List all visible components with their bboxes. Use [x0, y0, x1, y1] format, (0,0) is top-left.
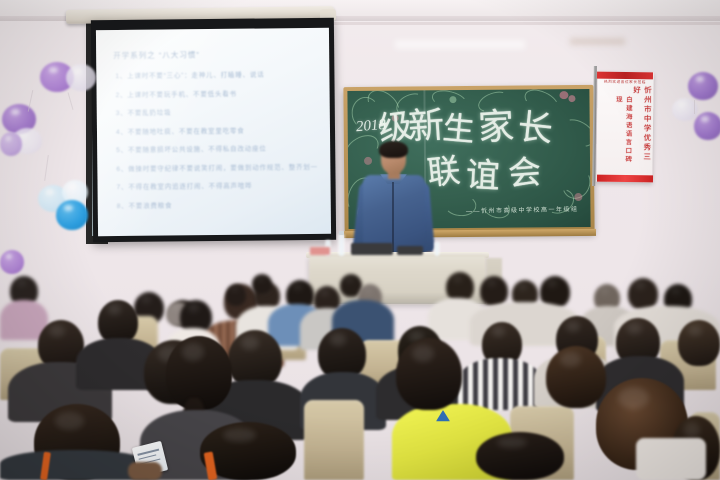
- slide-line: 3、不要乱扔垃圾: [116, 105, 325, 117]
- balloon: [694, 112, 720, 140]
- balloon: [0, 250, 24, 274]
- audience-body: [458, 358, 542, 410]
- wall-trim-secondary: [330, 22, 720, 25]
- balloon: [66, 64, 96, 91]
- slide-line: 2、上课时不要玩手机、不要低头看书: [116, 86, 325, 98]
- blackboard-headline-char: 会: [506, 145, 542, 195]
- audience-head: [476, 432, 564, 480]
- projected-slide: 开学系列之 “八大习惯” 1、上课时不要“三心”：走神儿、打瞌睡、说话 2、上课…: [102, 35, 326, 229]
- audience-head: [628, 278, 658, 310]
- slide-title: 开学系列之 “八大习惯”: [113, 48, 324, 61]
- audience-head: [546, 346, 606, 408]
- slide-line: 7、不得在教室内追逐打闹、不得高声喧哗: [117, 179, 326, 191]
- chair: [304, 400, 364, 480]
- banner-column-text: 白建海语语言口碑现: [611, 96, 632, 170]
- audience-body: [0, 450, 150, 480]
- balloon-ribbon: [694, 100, 696, 114]
- chalk-flower: [574, 193, 582, 201]
- slide-line: 5、不要随意损坏公共设施、不得私自改动座位: [116, 142, 325, 154]
- classroom-scene: 开学系列之 “八大习惯” 1、上课时不要“三心”：走神儿、打瞌睡、说话 2、上课…: [0, 0, 720, 480]
- blackboard-headline-char: 谊: [465, 147, 502, 198]
- audience-head: [226, 284, 246, 306]
- slide-line: 4、不要随地吐痰、不要在教室里吃零食: [116, 123, 325, 135]
- wall-mark: [395, 40, 525, 49]
- audience-head: [678, 320, 720, 366]
- chalk-flower: [568, 95, 575, 102]
- papers-on-podium: [310, 247, 330, 255]
- banner-top-stripe: [597, 72, 653, 80]
- blackboard-headline-char: 新: [406, 96, 446, 150]
- speaker-hair: [379, 141, 408, 158]
- chalk-flower: [364, 157, 372, 165]
- chalk-flower: [559, 91, 568, 99]
- balloon: [688, 72, 718, 100]
- blackboard-headline-char: 联: [425, 143, 463, 194]
- water-bottle: [338, 234, 345, 256]
- bottle-cap: [339, 231, 344, 235]
- chalk-flower: [449, 96, 456, 103]
- hand: [128, 462, 162, 480]
- banner-header-text: 热烈欢迎各位家长莅临: [602, 80, 648, 86]
- banner-column-text: 忻州市中学优秀三好: [630, 86, 653, 170]
- audience-head: [396, 338, 462, 410]
- blackboard-headline-char: 家: [477, 97, 516, 151]
- balloon: [56, 200, 88, 230]
- audience-head: [252, 274, 272, 294]
- audience-head: [480, 276, 508, 306]
- slide-line: 6、做操时要守纪律不要说笑打闹，要做到动作规范、整齐划一: [116, 160, 325, 172]
- wall-mark-2: [570, 38, 625, 45]
- slide-line: 8、不要浪费粮食: [117, 197, 326, 209]
- equipment-case: [397, 246, 423, 255]
- balloon: [0, 132, 22, 156]
- water-bottle: [434, 242, 440, 256]
- slide-line: 1、上课时不要“三心”：走神儿、打瞌睡、说话: [115, 68, 324, 80]
- banner-bottom-stripe: [597, 175, 653, 183]
- laptop-bag: [351, 243, 393, 255]
- audience-body: [636, 438, 706, 480]
